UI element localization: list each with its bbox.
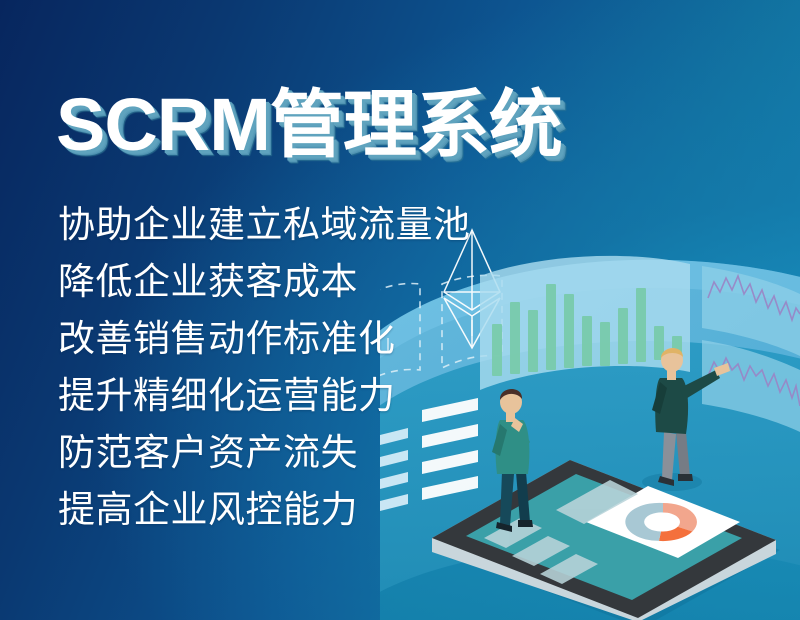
list-item: 降低企业获客成本 <box>58 253 471 310</box>
text-layer: SCRM管理系统 协助企业建立私域流量池 降低企业获客成本 改善销售动作标准化 … <box>0 0 800 620</box>
list-item: 协助企业建立私域流量池 <box>58 196 471 253</box>
feature-list: 协助企业建立私域流量池 降低企业获客成本 改善销售动作标准化 提升精细化运营能力… <box>58 196 471 538</box>
list-item: 改善销售动作标准化 <box>58 310 471 367</box>
list-item: 提升精细化运营能力 <box>58 367 471 424</box>
page-title: SCRM管理系统 <box>56 88 562 162</box>
list-item: 防范客户资产流失 <box>58 424 471 481</box>
scrm-promo-poster: SCRM管理系统 协助企业建立私域流量池 降低企业获客成本 改善销售动作标准化 … <box>0 0 800 620</box>
list-item: 提高企业风控能力 <box>58 481 471 538</box>
